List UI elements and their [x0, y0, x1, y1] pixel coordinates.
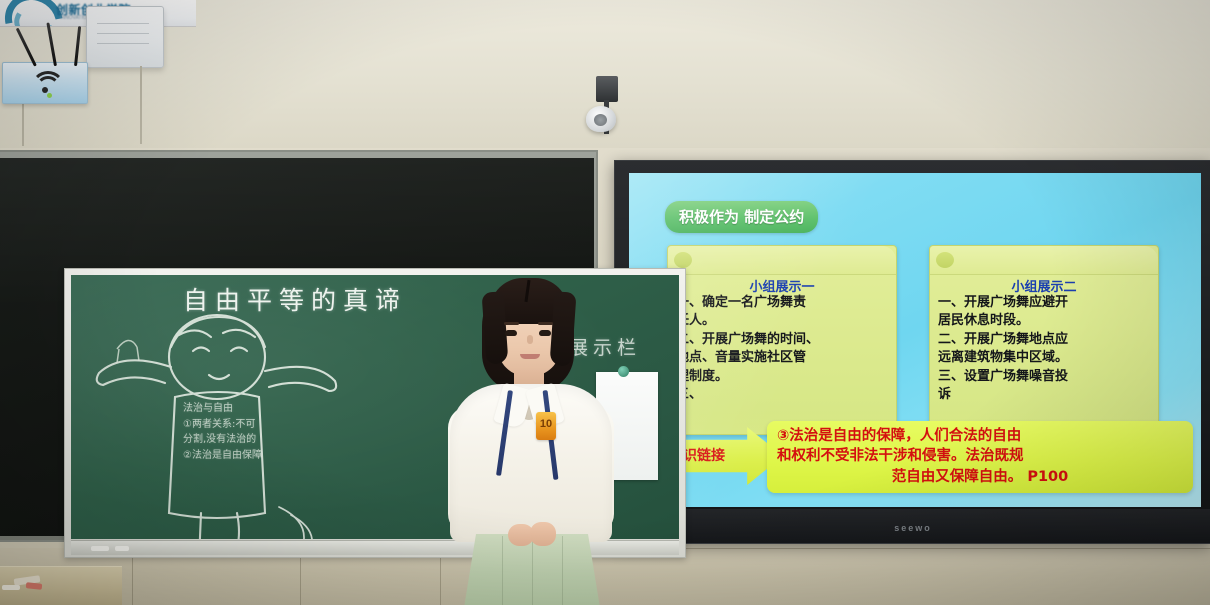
- mouth: [520, 354, 540, 359]
- knowledge-link-line-3: 范自由又保障自由。 P100: [777, 467, 1183, 487]
- panel-1-line: 地点、音量实施社区管: [676, 349, 888, 367]
- knowledge-link-text: ③法治是自由的保障，人们合法的自由 和权利不受非法干涉和侵害。法治既规 范自由又…: [777, 426, 1183, 487]
- knowledge-link-block: 知识链接 ③法治是自由的保障，人们合法的自由 和权利不受非法干涉和侵害。法治既规…: [655, 421, 1193, 493]
- router-cable: [22, 100, 24, 146]
- panel-1-line: 一、确定一名广场舞责: [676, 294, 888, 312]
- badge-number: 10: [536, 418, 556, 430]
- skirt-fold: [562, 536, 563, 605]
- presentation-slide: 积极作为 制定公约 小组展示一 一、确定一名广场舞责 任人。 二、开展广场舞的时…: [629, 173, 1201, 507]
- smartboard-brand-label: seewo: [894, 523, 932, 533]
- panel-1-line: 理制度。: [676, 368, 888, 386]
- panel-1-line: 二、开展广场舞的时间、: [676, 331, 888, 349]
- panel-2-line: 一、开展广场舞应避开: [938, 294, 1150, 312]
- eyebrow-right: [538, 322, 553, 325]
- panel-2-line: 诉: [938, 386, 1150, 404]
- chalk-figure-text: 法治与自由 ①两者关系:不可 分割,没有法治的 ②法治是自由保障: [183, 401, 277, 463]
- chalk-figure-line: 分割,没有法治的: [183, 432, 277, 448]
- panel-2-heading: 小组展示二: [930, 276, 1158, 295]
- panel-2-line: 居民休息时段。: [938, 312, 1150, 330]
- id-badge: 10: [536, 412, 556, 440]
- panel-1-heading: 小组展示一: [668, 276, 896, 295]
- panel-1-line: 三、: [676, 386, 888, 404]
- chalk-figure-line: 法治与自由: [183, 401, 277, 417]
- wallbox-line: [97, 43, 149, 44]
- nose: [527, 335, 533, 344]
- panel-1-body: 一、确定一名广场舞责 任人。 二、开展广场舞的时间、 地点、音量实施社区管 理制…: [676, 294, 888, 405]
- knowledge-link-line-1: ③法治是自由的保障，人们合法的自由: [777, 426, 1183, 446]
- group-panel-1: 小组展示一 一、确定一名广场舞责 任人。 二、开展广场舞的时间、 地点、音量实施…: [667, 245, 897, 435]
- wallbox-line: [97, 33, 149, 34]
- speaker-cone: [594, 114, 607, 126]
- teacher-figure: 10: [432, 278, 628, 605]
- classroom-scene: 创新创业学院 INNOVATION COLLEGE 积极作为: [0, 0, 1210, 605]
- scroll-curl: [668, 246, 896, 275]
- panel-2-line: 二、开展广场舞地点应: [938, 331, 1150, 349]
- slide-title: 积极作为 制定公约: [665, 201, 818, 233]
- panel-1-line: 任人。: [676, 312, 888, 330]
- eye-left: [505, 330, 517, 336]
- panel-2-line: 三、设置广场舞噪音投: [938, 368, 1150, 386]
- chalk-figure-line: ②法治是自由保障: [183, 448, 277, 464]
- desk-object: [26, 582, 43, 590]
- smartboard-frame[interactable]: 积极作为 制定公约 小组展示一 一、确定一名广场舞责 任人。 二、开展广场舞的时…: [614, 160, 1210, 544]
- eye-right: [539, 330, 551, 336]
- skirt-fold: [532, 536, 533, 605]
- knowledge-link-box: ③法治是自由的保障，人们合法的自由 和权利不受非法干涉和侵害。法治既规 范自由又…: [767, 421, 1193, 493]
- knowledge-link-line-2: 和权利不受非法干涉和侵害。法治既规: [777, 446, 1183, 466]
- desk-object: [2, 585, 20, 590]
- eyebrow-left: [504, 322, 519, 325]
- chalk-piece[interactable]: [91, 546, 109, 551]
- ceiling-speaker: [586, 106, 616, 132]
- panel-2-body: 一、开展广场舞应避开 居民休息时段。 二、开展广场舞地点应 远离建筑物集中区域。…: [938, 294, 1150, 405]
- router-status-led: [47, 93, 52, 98]
- smartboard-bezel: seewo: [615, 509, 1210, 543]
- hand-right: [530, 522, 556, 546]
- scroll-knob: [674, 252, 692, 268]
- skirt-fold: [502, 536, 503, 605]
- wifi-router: [2, 62, 88, 104]
- group-panel-2: 小组展示二 一、开展广场舞应避开 居民休息时段。 二、开展广场舞地点应 远离建筑…: [929, 245, 1159, 435]
- scroll-curl: [930, 246, 1158, 275]
- panel-2-line: 远离建筑物集中区域。: [938, 349, 1150, 367]
- scroll-knob: [936, 252, 954, 268]
- wifi-icon: [31, 71, 59, 93]
- side-desk: [0, 566, 122, 605]
- smartboard-screen[interactable]: 积极作为 制定公约 小组展示一 一、确定一名广场舞责 任人。 二、开展广场舞的时…: [629, 173, 1201, 507]
- wallbox-line: [97, 23, 149, 24]
- chalk-piece[interactable]: [115, 546, 129, 551]
- power-cable: [140, 66, 142, 144]
- wall-mounted-box: [86, 6, 164, 68]
- chalk-figure-line: ①两者关系:不可: [183, 417, 277, 433]
- speaker-mount-plate: [596, 76, 618, 102]
